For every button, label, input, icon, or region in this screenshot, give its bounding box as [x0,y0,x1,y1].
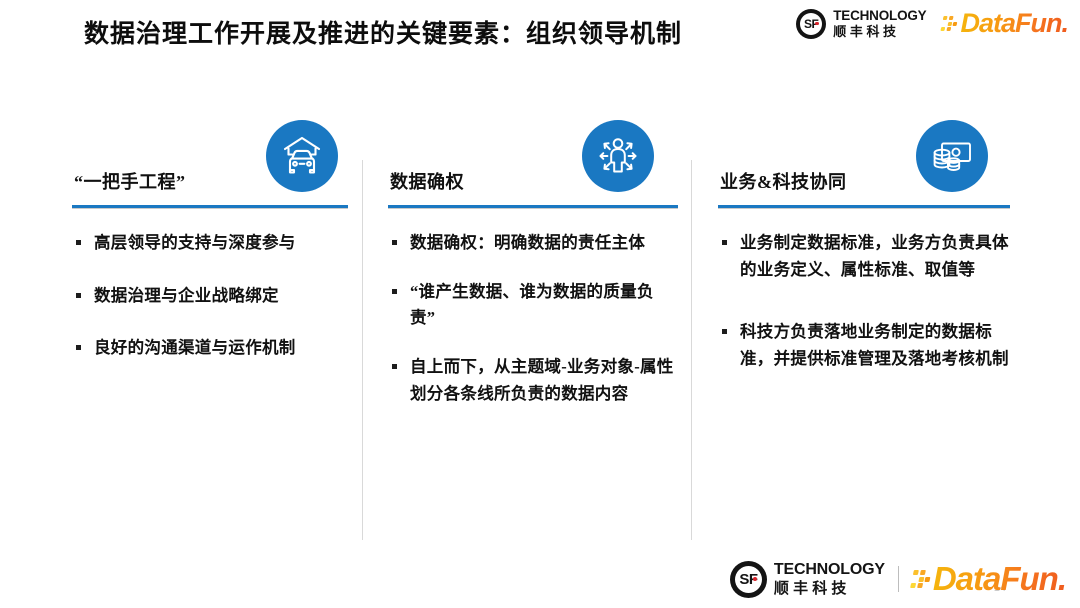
datafun-dots-icon [941,16,959,31]
page-title: 数据治理工作开展及推进的关键要素：组织领导机制 [84,14,682,50]
sf-chinese-name: 顺 丰 科 技 [774,581,885,596]
list-item: 数据治理与企业战略绑定 [72,283,348,310]
content-columns: “一把手工程” 高层领导的支持与深度参与 数据治理与企业战略绑定 良好的沟通渠道… [0,120,1080,540]
column-rule [718,205,1010,208]
slide-header: 数据治理工作开展及推进的关键要素：组织领导机制 SF TECHNOLOGY 顺 … [0,0,1080,60]
list-item: 科技方负责落地业务制定的数据标准，并提供标准管理及落地考核机制 [718,319,1010,372]
column-rule [388,205,678,208]
datafun-logo: DataFun. [942,8,1068,39]
sf-monogram: SF [735,566,762,593]
car-garage-icon [266,120,338,192]
column-business-tech-synergy: 业务&科技协同 业务制定数据标准，业务方负责具体的业务定义、属性标准、取值等 科… [718,120,1010,409]
datafun-wordmark: DataFun. [933,560,1066,598]
sf-wordmark: TECHNOLOGY 顺 丰 科 技 [833,9,926,38]
sf-technology-logo-footer: SF TECHNOLOGY 顺 丰 科 技 [730,561,885,598]
sf-wordmark: TECHNOLOGY 顺 丰 科 技 [774,562,885,596]
bullet-list: 高层领导的支持与深度参与 数据治理与企业战略绑定 良好的沟通渠道与运作机制 [72,230,348,362]
person-arrows-icon [582,120,654,192]
footer-divider [898,566,899,592]
column-title: 业务&科技协同 [720,168,847,194]
column-title: “一把手工程” [74,168,186,194]
column-header: 业务&科技协同 [718,120,1010,208]
sf-chinese-name: 顺 丰 科 技 [833,25,926,38]
sf-circle-icon: SF [730,561,767,598]
column-rule [72,205,348,208]
datafun-dots-icon [910,570,932,588]
list-item: 高层领导的支持与深度参与 [72,230,348,257]
datafun-wordmark: DataFun. [960,8,1068,39]
sf-english-name: TECHNOLOGY [833,9,926,23]
datafun-logo-footer: DataFun. [912,560,1066,598]
list-item: 自上而下，从主题域-业务对象-属性划分各条线所负责的数据内容 [388,354,678,407]
money-coins-icon [916,120,988,192]
sf-technology-logo: SF TECHNOLOGY 顺 丰 科 技 [796,9,926,39]
column-header: 数据确权 [388,120,678,208]
column-header: “一把手工程” [72,120,348,208]
list-item: “谁产生数据、谁为数据的质量负责” [388,279,678,332]
bullet-list: 业务制定数据标准，业务方负责具体的业务定义、属性标准、取值等 科技方负责落地业务… [718,230,1010,373]
sf-red-dot-icon [815,22,819,26]
column-data-ownership: 数据确权 数据确权：明确数据的责任主体 “谁产生数据、谁为数据的质量负责” 自上… [388,120,678,430]
slide-footer: SF TECHNOLOGY 顺 丰 科 技 DataFun. [730,560,1066,598]
list-item: 数据确权：明确数据的责任主体 [388,230,678,257]
column-divider-2 [691,160,692,540]
list-item: 业务制定数据标准，业务方负责具体的业务定义、属性标准、取值等 [718,230,1010,283]
sf-circle-icon: SF [796,9,826,39]
sf-monogram: SF [800,13,822,35]
column-leadership: “一把手工程” 高层领导的支持与深度参与 数据治理与企业战略绑定 良好的沟通渠道… [72,120,348,388]
sf-english-name: TECHNOLOGY [774,562,885,578]
list-item: 良好的沟通渠道与运作机制 [72,335,348,362]
column-divider-1 [362,160,363,540]
column-title: 数据确权 [390,168,464,194]
header-logo-group: SF TECHNOLOGY 顺 丰 科 技 DataFun. [796,8,1068,39]
bullet-list: 数据确权：明确数据的责任主体 “谁产生数据、谁为数据的质量负责” 自上而下，从主… [388,230,678,408]
